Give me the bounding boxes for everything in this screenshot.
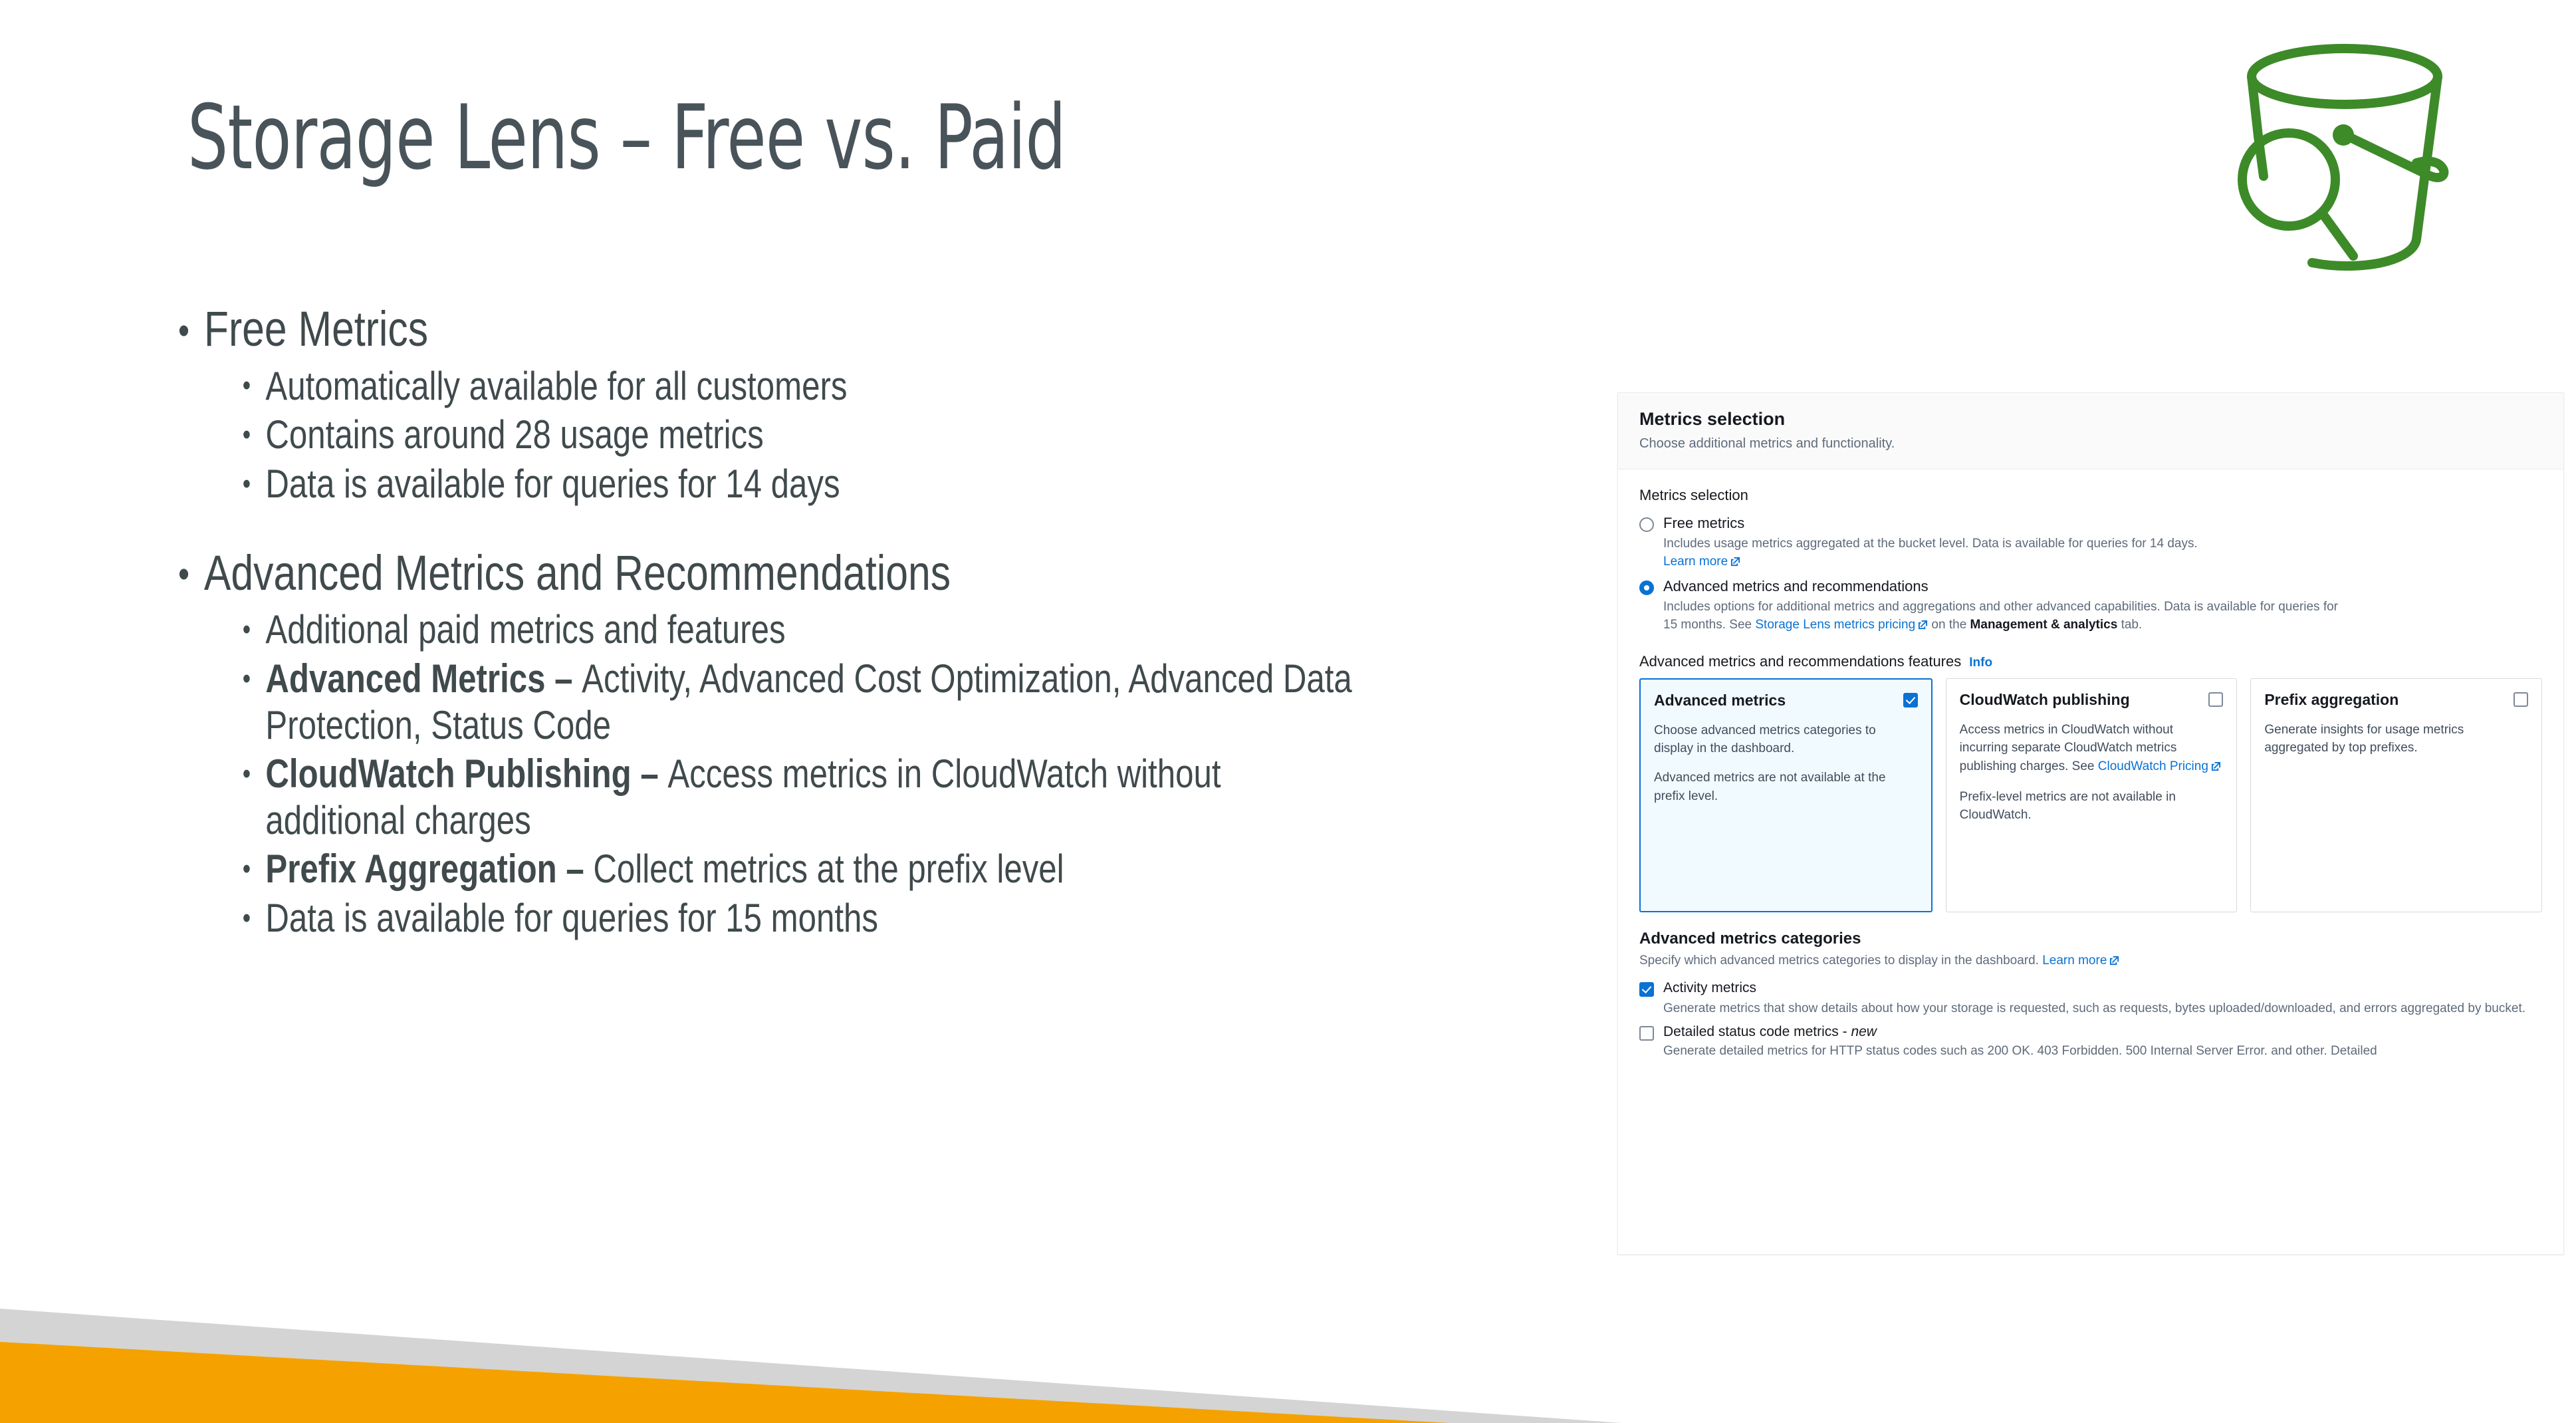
card-title: CloudWatch publishing — [1960, 691, 2130, 709]
storage-lens-metrics-pricing-link[interactable]: Storage Lens metrics pricing — [1755, 618, 1915, 632]
advanced-metrics-categories: Advanced metrics categories Specify whic… — [1639, 930, 2542, 1055]
card-paragraph: Access metrics in CloudWatch without inc… — [1960, 721, 2224, 777]
radio-button-selected-icon[interactable] — [1639, 581, 1654, 595]
checkbox-label: Activity metrics — [1663, 980, 2542, 996]
radio-label: Free metrics — [1663, 515, 2542, 532]
card-paragraph: Generate insights for usage metrics aggr… — [2264, 721, 2528, 757]
bullet-text: Contains around 28 usage metrics — [259, 412, 1367, 458]
checkbox-row-detailed-status-code-metrics[interactable]: Detailed status code metrics - new Gener… — [1639, 1024, 2542, 1055]
bullet-text: Data is available for queries for 14 day… — [259, 461, 1367, 507]
bullet-advanced-metrics: Advanced Metrics and Recommendations — [178, 545, 1367, 602]
bullet-marker — [178, 301, 201, 353]
bullet-text: Data is available for queries for 15 mon… — [259, 895, 1367, 942]
bullet-lead: CloudWatch Publishing – — [265, 751, 667, 796]
external-link-icon — [1730, 555, 1740, 573]
bullet-marker — [243, 846, 259, 886]
radio-description-part2: on the — [1928, 618, 1970, 632]
radio-advanced-metrics-and-recommendations[interactable]: Advanced metrics and recommendations Inc… — [1639, 578, 2542, 636]
categories-title: Advanced metrics categories — [1639, 930, 2542, 948]
bullet-marker — [243, 412, 259, 452]
checkbox-checked-icon[interactable] — [1639, 982, 1654, 997]
aws-console-screenshot: Metrics selection Choose additional metr… — [1617, 392, 2564, 1255]
checkbox-icon[interactable] — [1639, 1026, 1654, 1041]
card-paragraph: Advanced metrics are not available at th… — [1654, 769, 1918, 805]
bullet-marker — [243, 363, 259, 403]
bullet-text: Advanced Metrics – Activity, Advanced Co… — [259, 656, 1367, 748]
radio-description: Includes usage metrics aggregated at the… — [1663, 535, 2355, 573]
card-advanced-metrics[interactable]: Advanced metrics Choose advanced metrics… — [1639, 678, 1932, 912]
bullet-lead: Prefix Aggregation – — [265, 846, 593, 891]
bullet-item: CloudWatch Publishing – Access metrics i… — [243, 751, 1367, 843]
categories-subtitle: Specify which advanced metrics categorie… — [1639, 954, 2542, 970]
bullet-text: Automatically available for all customer… — [259, 363, 1367, 410]
checkbox-checked-icon[interactable] — [1903, 693, 1918, 708]
bullet-text: Advanced Metrics and Recommendations — [201, 545, 1367, 602]
learn-more-link[interactable]: Learn more — [1663, 555, 1728, 569]
bullet-item: Contains around 28 usage metrics — [243, 412, 1367, 458]
bullet-lead: Advanced Metrics – — [265, 656, 582, 701]
card-paragraph: Choose advanced metrics categories to di… — [1654, 721, 1918, 758]
radio-button-icon[interactable] — [1639, 517, 1654, 532]
bullet-rest: Collect metrics at the prefix level — [593, 846, 1064, 891]
card-title: Advanced metrics — [1654, 692, 1786, 710]
management-analytics-strong: Management & analytics — [1970, 618, 2118, 632]
page-title: Storage Lens – Free vs. Paid — [187, 93, 1066, 182]
radio-description: Includes options for additional metrics … — [1663, 598, 2355, 636]
checkbox-row-activity-metrics[interactable]: Activity metrics Generate metrics that s… — [1639, 980, 2542, 1018]
s3-storage-lens-bucket-icon — [2217, 37, 2470, 283]
bullet-item: Data is available for queries for 15 mon… — [243, 895, 1367, 942]
bullet-free-metrics: Free Metrics — [178, 301, 1367, 358]
bullet-marker — [243, 751, 259, 791]
card-prefix-aggregation[interactable]: Prefix aggregation Generate insights for… — [2250, 678, 2542, 912]
bullet-marker — [243, 606, 259, 646]
external-link-icon — [2109, 955, 2119, 970]
bullet-text: Free Metrics — [201, 301, 1367, 358]
panel-title: Metrics selection — [1639, 409, 2542, 430]
bullet-text: Additional paid metrics and features — [259, 606, 1367, 653]
external-link-icon — [1918, 618, 1928, 636]
external-link-icon — [2211, 759, 2221, 777]
new-badge: new — [1851, 1024, 1877, 1039]
slide-footer-decoration — [0, 1277, 1662, 1423]
bullet-item: Additional paid metrics and features — [243, 606, 1367, 653]
bullet-spacer — [178, 510, 1367, 545]
card-cloudwatch-publishing[interactable]: CloudWatch publishing Access metrics in … — [1946, 678, 2238, 912]
features-label-text: Advanced metrics and recommendations fea… — [1639, 653, 1961, 670]
slide-bullet-list: Free Metrics Automatically available for… — [178, 301, 1367, 944]
checkbox-label-text: Detailed status code metrics - — [1663, 1024, 1851, 1039]
learn-more-link[interactable]: Learn more — [2042, 954, 2107, 968]
info-link[interactable]: Info — [1969, 656, 1992, 670]
radio-label: Advanced metrics and recommendations — [1663, 578, 2542, 595]
cloudwatch-pricing-link[interactable]: CloudWatch Pricing — [2098, 759, 2208, 773]
metrics-selection-label: Metrics selection — [1639, 487, 2542, 504]
bullet-text: Prefix Aggregation – Collect metrics at … — [259, 846, 1367, 892]
feature-cards: Advanced metrics Choose advanced metrics… — [1639, 678, 2542, 912]
bullet-item: Automatically available for all customer… — [243, 363, 1367, 410]
radio-description-text: Includes usage metrics aggregated at the… — [1663, 537, 2198, 551]
card-paragraph: Prefix-level metrics are not available i… — [1960, 788, 2224, 825]
bullet-item: Prefix Aggregation – Collect metrics at … — [243, 846, 1367, 892]
bullet-item: Data is available for queries for 14 day… — [243, 461, 1367, 507]
checkbox-icon[interactable] — [2514, 692, 2528, 707]
categories-subtitle-text: Specify which advanced metrics categorie… — [1639, 954, 2042, 968]
panel-body: Metrics selection Free metrics Includes … — [1618, 469, 2563, 1055]
card-title: Prefix aggregation — [2264, 691, 2399, 709]
checkbox-description-clipped: Generate detailed metrics for HTTP statu… — [1663, 1044, 2542, 1055]
bullet-text: CloudWatch Publishing – Access metrics i… — [259, 751, 1367, 843]
bullet-marker — [178, 545, 201, 597]
checkbox-description: Generate metrics that show details about… — [1663, 999, 2542, 1018]
radio-free-metrics[interactable]: Free metrics Includes usage metrics aggr… — [1639, 515, 2542, 573]
bullet-marker — [243, 656, 259, 696]
checkbox-label: Detailed status code metrics - new — [1663, 1024, 2542, 1040]
panel-header: Metrics selection Choose additional metr… — [1618, 393, 2563, 469]
bullet-item: Advanced Metrics – Activity, Advanced Co… — [243, 656, 1367, 748]
radio-description-part3: tab. — [2117, 618, 2142, 632]
features-section-label: Advanced metrics and recommendations fea… — [1639, 653, 2542, 670]
bullet-marker — [243, 461, 259, 501]
bullet-marker — [243, 895, 259, 935]
checkbox-icon[interactable] — [2208, 692, 2223, 707]
panel-subtitle: Choose additional metrics and functional… — [1639, 436, 2542, 452]
